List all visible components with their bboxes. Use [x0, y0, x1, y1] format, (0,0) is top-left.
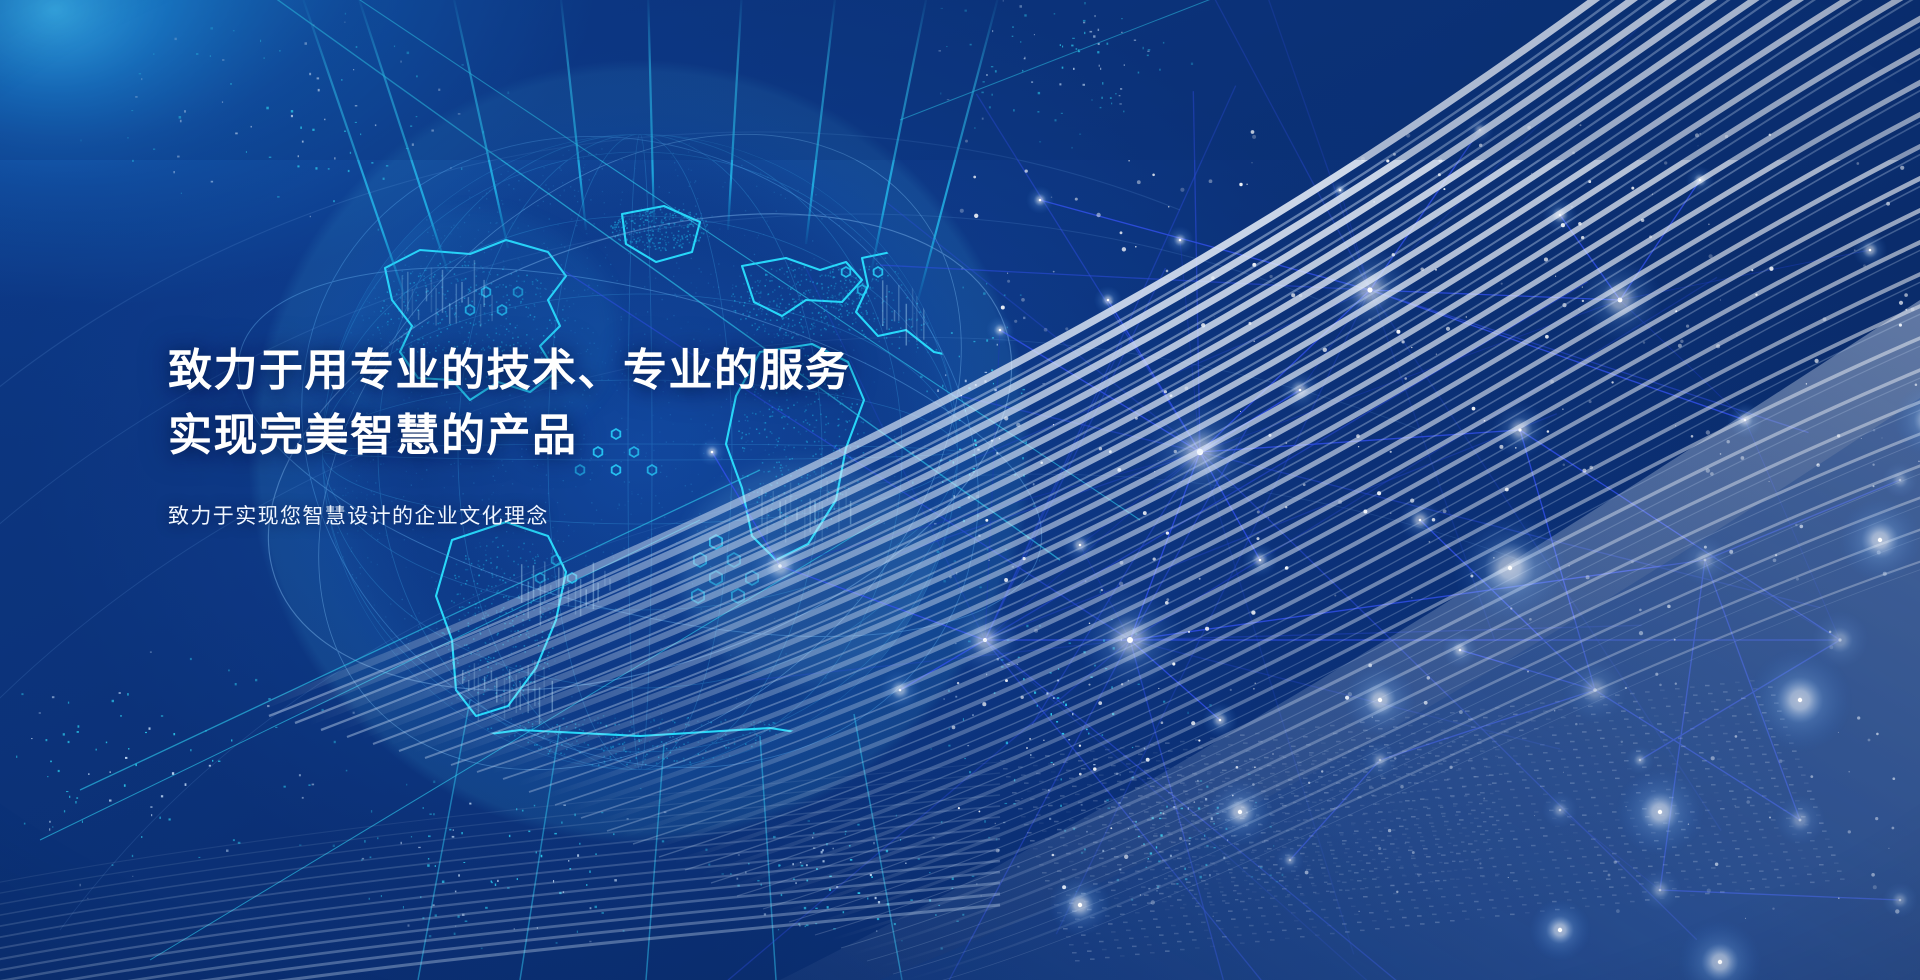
hero-banner: 致力于用专业的技术、专业的服务 实现完美智慧的产品 致力于实现您智慧设计的企业文…: [0, 0, 1920, 980]
headline-line-2: 实现完美智慧的产品: [168, 403, 1148, 468]
hero-subtitle: 致力于实现您智慧设计的企业文化理念: [168, 501, 1148, 533]
hero-copy: 致力于用专业的技术、专业的服务 实现完美智慧的产品 致力于实现您智慧设计的企业文…: [168, 338, 1148, 533]
headline-line-1: 致力于用专业的技术、专业的服务: [168, 338, 1148, 403]
